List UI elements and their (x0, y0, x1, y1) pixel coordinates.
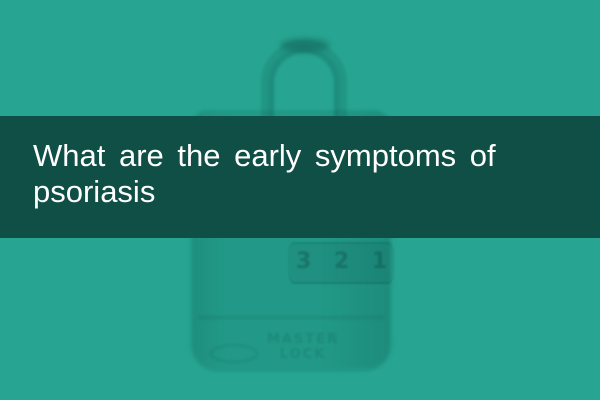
padlock-dial-3-digit-2: 2 (334, 251, 350, 273)
padlock-dial-3-digits: 3 2 1 (296, 251, 388, 273)
padlock-dial-3: 3 2 1 (288, 242, 394, 284)
padlock-dial-3-digit-1: 3 (296, 251, 312, 273)
padlock-base-seam (198, 316, 384, 319)
padlock-emboss-line-2: LOCK (228, 347, 378, 362)
padlock-embossed-branding: MASTER LOCK (228, 332, 378, 362)
screenshot-canvas: 3 2 1 3 2 1 3 2 1 (0, 0, 600, 400)
caption-text: What are the early symptoms of psoriasis (33, 138, 585, 210)
padlock-emboss-line-1: MASTER (228, 332, 378, 347)
padlock-dial-3-digit-3: 1 (372, 251, 388, 273)
caption-banner: What are the early symptoms of psoriasis (0, 116, 600, 238)
